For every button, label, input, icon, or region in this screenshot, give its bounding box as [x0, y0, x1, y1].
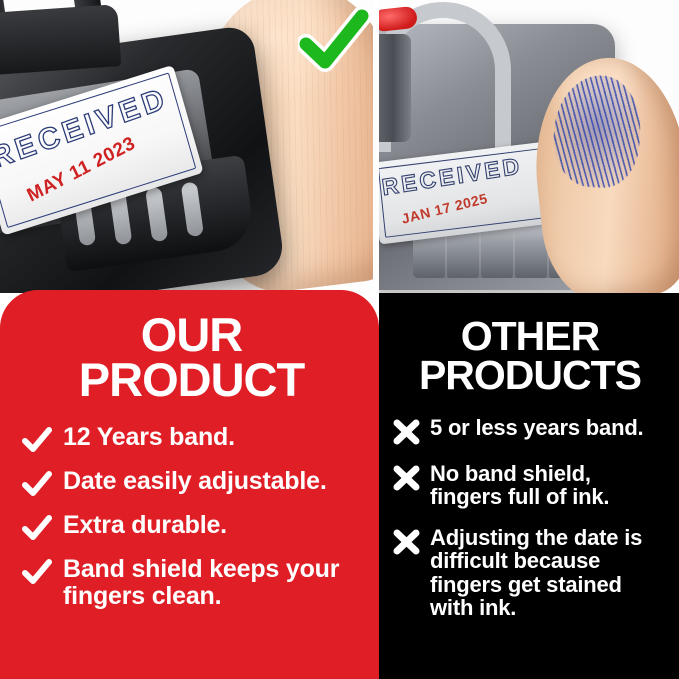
check-icon	[22, 515, 52, 541]
our-product-photo: RECEIVED MAY 11 2023	[0, 0, 373, 293]
our-product-title: OUR PRODUCT	[22, 312, 361, 402]
comparison-infographic: RECEIVED MAY 11 2023	[0, 0, 679, 679]
x-icon	[393, 465, 420, 491]
feature-text: 5 or less years band.	[430, 416, 643, 440]
feature-text: No band shield, fingers full of ink.	[430, 462, 667, 509]
band-slot	[181, 181, 204, 237]
feature-text: Date easily adjustable.	[63, 468, 327, 495]
list-item: 5 or less years band.	[393, 416, 667, 445]
band-slot	[145, 186, 168, 242]
x-icon	[393, 529, 420, 555]
check-badge-icon	[298, 8, 370, 74]
other-products-title: OTHER PRODUCTS	[393, 317, 667, 396]
check-icon	[22, 427, 52, 453]
check-icon	[22, 559, 52, 585]
black-date-stamper: RECEIVED MAY 11 2023	[0, 24, 286, 293]
other-products-photo: RECEIVED JAN 17 2025	[379, 0, 679, 293]
our-product-feature-list: 12 Years band. Date easily adjustable. E…	[22, 424, 361, 610]
ink-stain	[551, 73, 643, 189]
stamper-inner-post	[379, 34, 411, 142]
feature-text: Extra durable.	[63, 512, 227, 539]
list-item: 12 Years band.	[22, 424, 361, 453]
other-products-scene: RECEIVED JAN 17 2025	[379, 0, 679, 293]
our-product-title-line2: PRODUCT	[22, 357, 361, 402]
check-icon	[22, 471, 52, 497]
other-products-panel: OTHER PRODUCTS 5 or less years band. No …	[379, 293, 679, 679]
other-products-feature-list: 5 or less years band. No band shield, fi…	[393, 416, 667, 620]
feature-text: 12 Years band.	[63, 424, 235, 451]
our-product-panel: OUR PRODUCT 12 Years band. Date easily a…	[0, 290, 379, 679]
other-products-title-line2: PRODUCTS	[393, 356, 667, 395]
list-item: Adjusting the date is difficult because …	[393, 526, 667, 620]
list-item: No band shield, fingers full of ink.	[393, 462, 667, 509]
x-icon	[393, 419, 420, 445]
list-item: Band shield keeps your fingers clean.	[22, 556, 361, 610]
list-item: Date easily adjustable.	[22, 468, 361, 497]
feature-text: Adjusting the date is difficult because …	[430, 526, 667, 620]
stamper-handle-bar	[0, 4, 121, 76]
list-item: Extra durable.	[22, 512, 361, 541]
feature-text: Band shield keeps your fingers clean.	[63, 556, 361, 610]
photo-comparison-row: RECEIVED MAY 11 2023	[0, 0, 679, 293]
